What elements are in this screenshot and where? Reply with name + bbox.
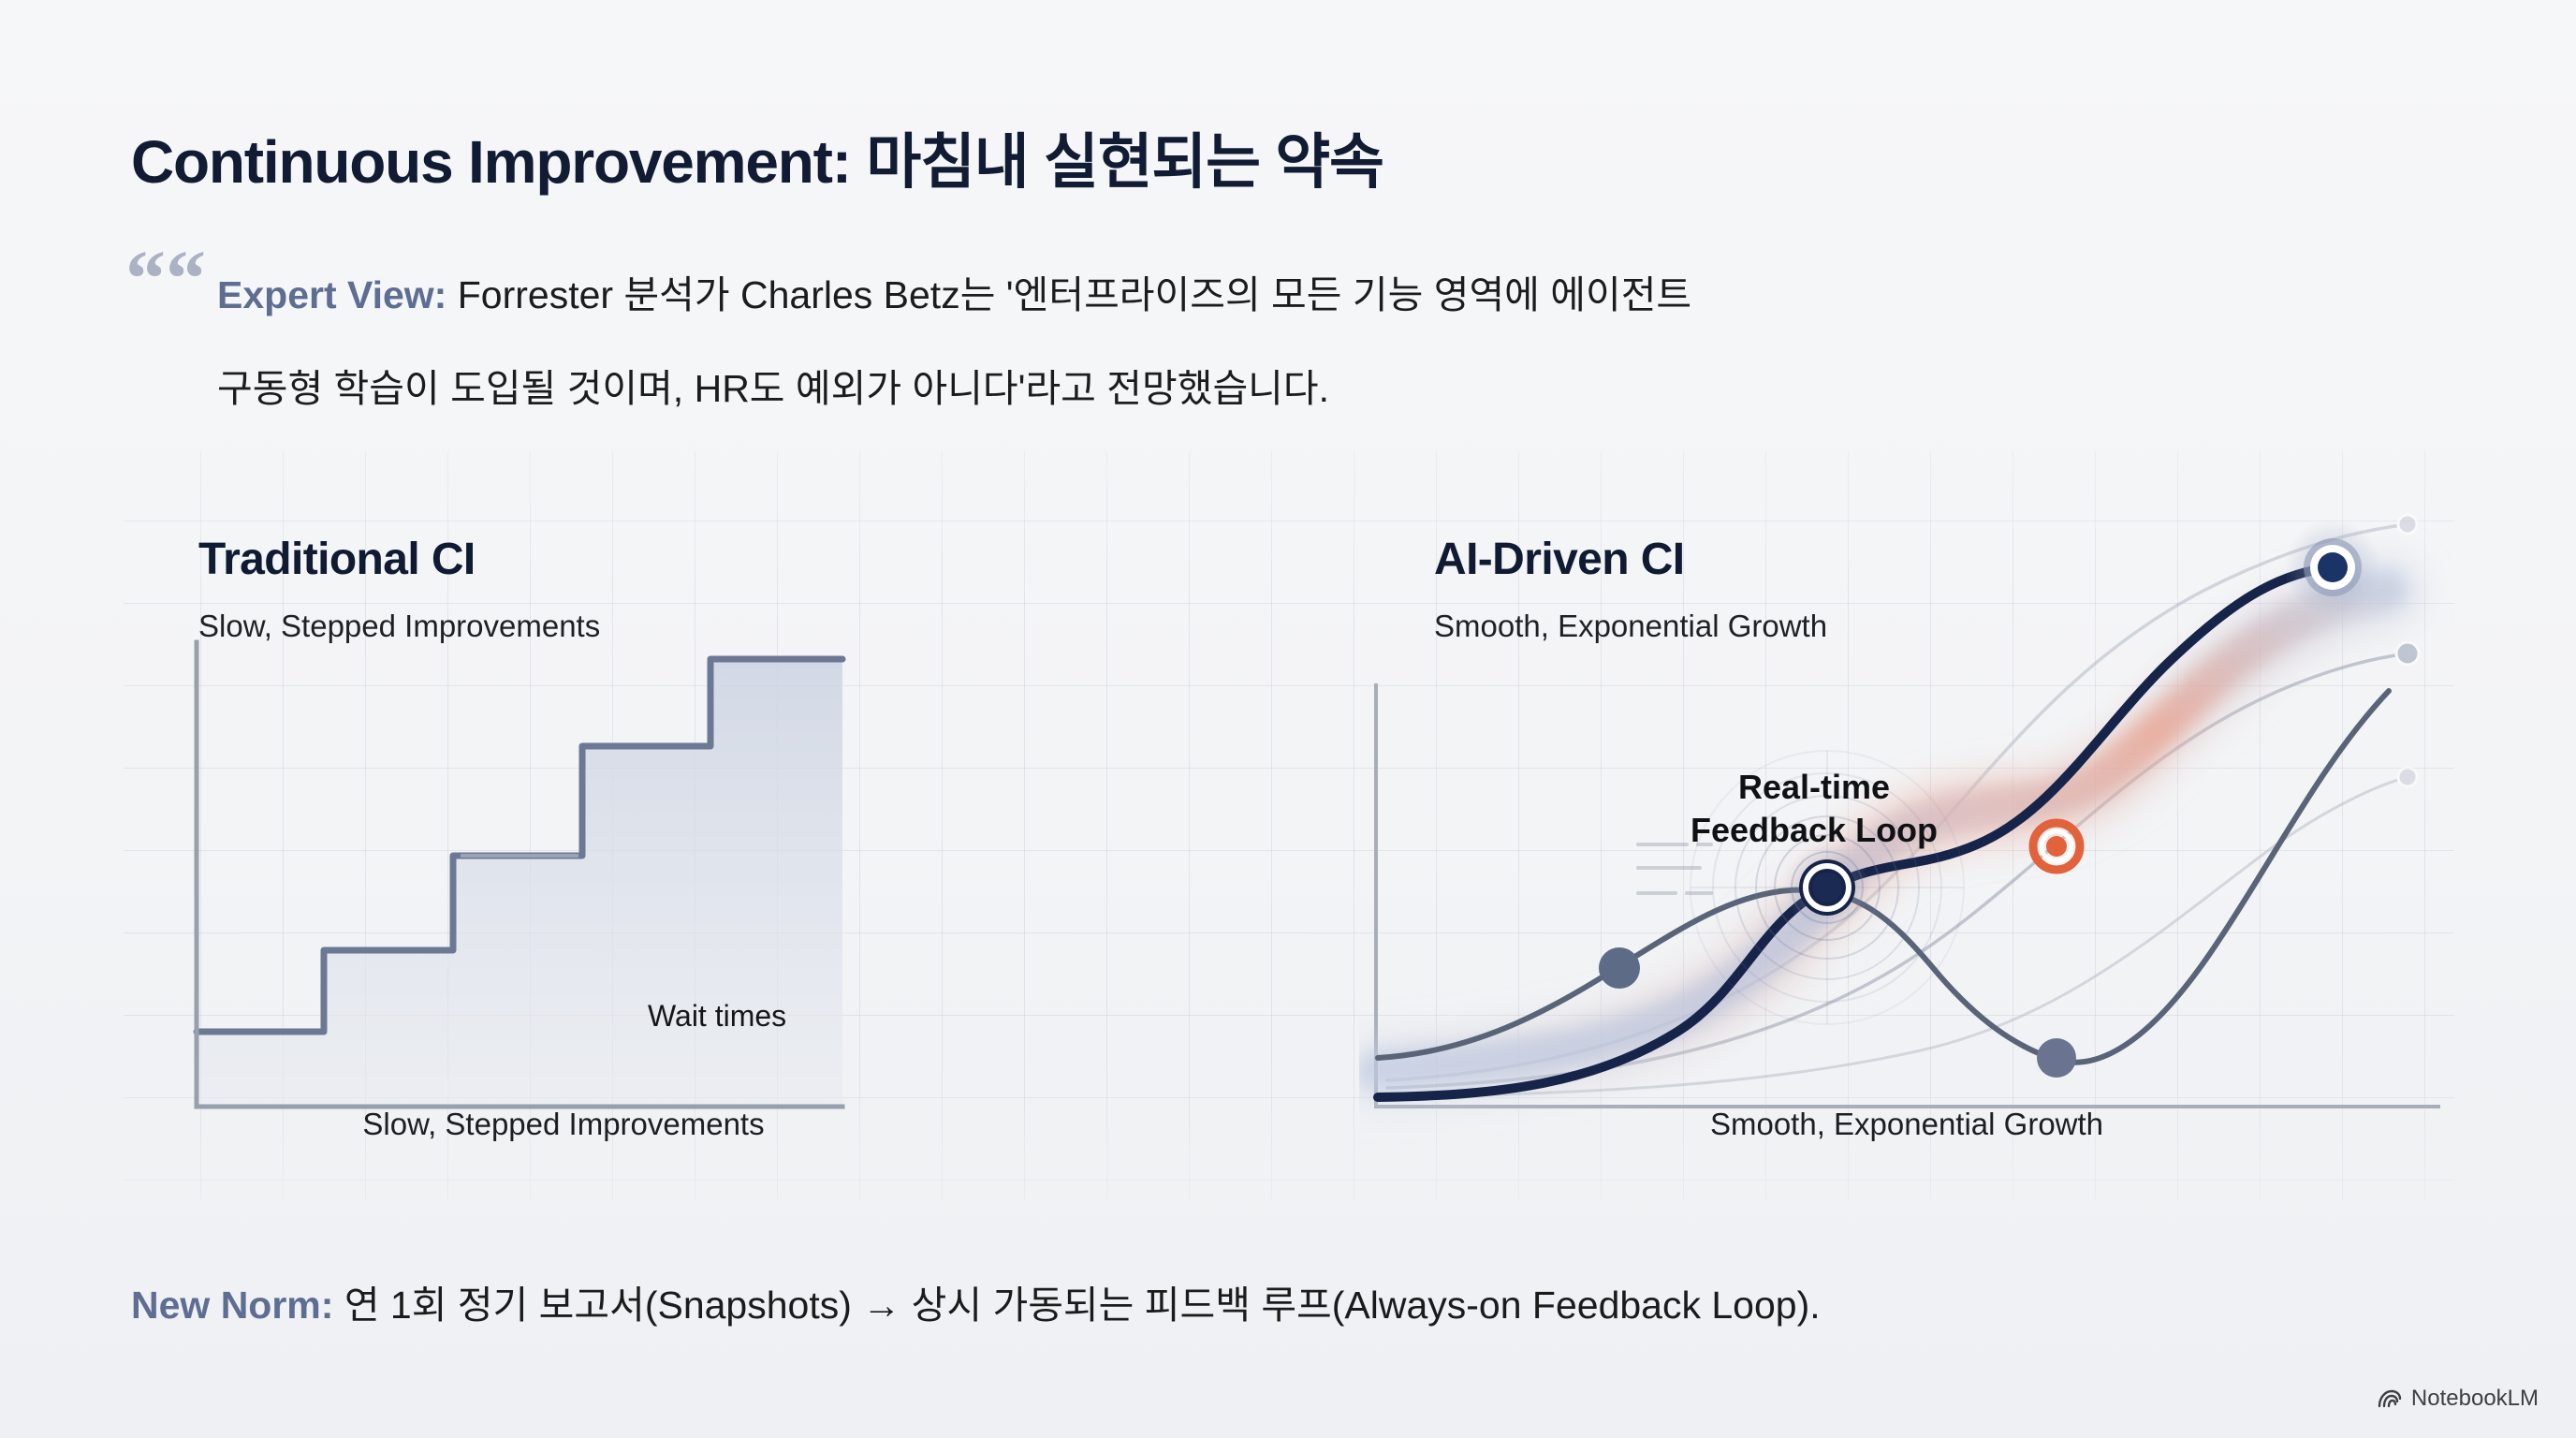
realtime-feedback-loop-label: Real-time Feedback Loop	[1690, 766, 1938, 852]
page-title: Continuous Improvement: 마침내 실현되는 약속	[131, 114, 1383, 200]
watermark-label: NotebookLM	[2411, 1386, 2539, 1412]
node-start[interactable]	[1599, 947, 1640, 989]
notebooklm-watermark: NotebookLM	[2378, 1386, 2539, 1412]
node-dip[interactable]	[2037, 1038, 2076, 1078]
expert-view-label: Expert View:	[217, 273, 446, 316]
new-norm-text: 연 1회 정기 보고서(Snapshots) → 상시 가동되는 피드백 루프(…	[333, 1284, 1820, 1327]
step-area-fill	[197, 659, 842, 1107]
footer-new-norm: New Norm: 연 1회 정기 보고서(Snapshots) → 상시 가동…	[131, 1273, 1821, 1329]
node-inflection[interactable]	[1812, 873, 1842, 902]
slide-root: Continuous Improvement: 마침내 실현되는 약속 ““ E…	[0, 0, 2576, 1438]
feedback-label-line2: Feedback Loop	[1690, 809, 1938, 852]
new-norm-label: New Norm:	[131, 1284, 333, 1327]
expert-view-text: Forrester 분석가 Charles Betz는 '엔터프라이즈의 모든 …	[446, 273, 1691, 316]
quote-mark-icon: ““	[125, 251, 206, 305]
panel-traditional-ci: Traditional CI Slow, Stepped Improvement…	[124, 451, 1247, 1200]
panel-ai-caption: Smooth, Exponential Growth	[1359, 1107, 2454, 1142]
traditional-ci-step-chart	[124, 451, 1247, 1200]
expert-view-quote-line1: Expert View: Forrester 분석가 Charles Betz는…	[217, 268, 2417, 324]
node-end[interactable]	[2318, 552, 2348, 582]
node-feedback[interactable]	[2046, 836, 2067, 857]
chart-canvas: Traditional CI Slow, Stepped Improvement…	[124, 451, 2454, 1200]
expert-view-quote-line2: 구동형 학습이 도입될 것이며, HR도 예외가 아니다'라고 전망했습니다.	[217, 361, 2464, 418]
panel-ai-driven-ci: AI-Driven CI Smooth, Exponential Growth	[1359, 451, 2454, 1200]
notebooklm-logo-icon	[2378, 1388, 2402, 1409]
wait-times-label: Wait times	[648, 999, 786, 1034]
panel-traditional-caption: Slow, Stepped Improvements	[124, 1107, 1125, 1142]
feedback-label-line1: Real-time	[1690, 766, 1938, 809]
